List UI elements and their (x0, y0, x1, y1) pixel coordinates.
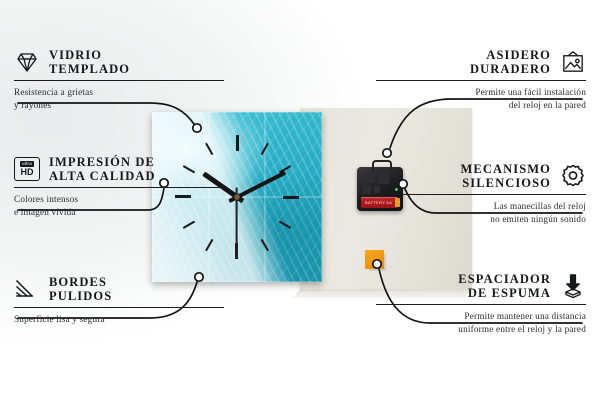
connector-endpoint (193, 124, 201, 132)
feature-title-line1: BORDES (49, 275, 112, 289)
feature-subtitle-line1: Colores intensos (14, 193, 224, 205)
feature-subtitle-line2: no emiten ningún sonido (376, 213, 586, 225)
feature-title-line1: ESPACIADOR (458, 272, 551, 286)
divider (376, 80, 586, 81)
ultra-hd-box: ultra HD (14, 157, 40, 181)
feature-title-line1: ASIDERO (470, 48, 551, 62)
feature-subtitle-line1: Las manecillas del reloj (376, 200, 586, 212)
feature-title-line2: TEMPLADO (49, 62, 130, 76)
infographic-canvas: BATTERY AA (0, 0, 600, 400)
feature-subtitle: Resistencia a grietas y rayones (14, 86, 224, 111)
ultra-hd-icon: ultra HD (14, 156, 40, 182)
diamond-icon (14, 49, 40, 75)
feature-title: ASIDERO DURADERO (470, 48, 551, 76)
feature-title-line2: DURADERO (470, 62, 551, 76)
polished-edges-icon (14, 276, 40, 302)
divider (14, 307, 224, 308)
feature-vidrio-templado: VIDRIO TEMPLADO Resistencia a grietas y … (14, 48, 224, 111)
picture-frame-icon (560, 49, 586, 75)
feature-subtitle: Las manecillas del reloj no emiten ningú… (376, 200, 586, 225)
feature-espaciador-de-espuma: ESPACIADOR DE ESPUMA Permite mantener un… (376, 272, 586, 335)
ultra-hd-badge-small: ultra (20, 161, 34, 167)
feature-subtitle-line2: uniforme entre el reloj y la pared (376, 323, 586, 335)
feature-subtitle-line1: Permite mantener una distancia (376, 310, 586, 322)
feature-subtitle-line2: del reloj en la pared (376, 99, 586, 111)
feature-title: MECANISMO SILENCIOSO (461, 162, 551, 190)
gear-icon (560, 163, 586, 189)
feature-subtitle-line2: e imagen vívida (14, 206, 224, 218)
divider (14, 80, 224, 81)
feature-title: BORDES PULIDOS (49, 275, 112, 303)
feature-header: BORDES PULIDOS (14, 275, 224, 303)
feature-header: MECANISMO SILENCIOSO (376, 162, 586, 190)
feature-title-line1: VIDRIO (49, 48, 130, 62)
feature-title-line1: IMPRESIÓN DE (49, 155, 156, 169)
connector-endpoint (373, 260, 381, 268)
feature-impresion-alta-calidad: ultra HD IMPRESIÓN DE ALTA CALIDAD Color… (14, 155, 224, 218)
feature-title-line2: SILENCIOSO (461, 176, 551, 190)
feature-header: ESPACIADOR DE ESPUMA (376, 272, 586, 300)
feature-header: VIDRIO TEMPLADO (14, 48, 224, 76)
feature-subtitle-line2: y rayones (14, 99, 224, 111)
feature-title: IMPRESIÓN DE ALTA CALIDAD (49, 155, 156, 183)
feature-header: ASIDERO DURADERO (376, 48, 586, 76)
feature-title: VIDRIO TEMPLADO (49, 48, 130, 76)
divider (14, 187, 224, 188)
feature-subtitle-line1: Resistencia a grietas (14, 86, 224, 98)
feature-header: ultra HD IMPRESIÓN DE ALTA CALIDAD (14, 155, 224, 183)
connector-endpoint (383, 149, 391, 157)
feature-asidero-duradero: ASIDERO DURADERO Permite una fácil insta… (376, 48, 586, 111)
feature-bordes-pulidos: BORDES PULIDOS Superficie lisa y segura (14, 275, 224, 326)
feature-title-line2: ALTA CALIDAD (49, 169, 156, 183)
feature-subtitle: Colores intensos e imagen vívida (14, 193, 224, 218)
feature-subtitle: Permite mantener una distancia uniforme … (376, 310, 586, 335)
feature-subtitle: Permite una fácil instalación del reloj … (376, 86, 586, 111)
feature-subtitle-line1: Permite una fácil instalación (376, 86, 586, 98)
divider (376, 304, 586, 305)
feature-title: ESPACIADOR DE ESPUMA (458, 272, 551, 300)
feature-subtitle-line1: Superficie lisa y segura (14, 313, 224, 325)
feature-title-line2: DE ESPUMA (458, 286, 551, 300)
feature-subtitle: Superficie lisa y segura (14, 313, 224, 325)
divider (376, 194, 586, 195)
feature-title-line2: PULIDOS (49, 289, 112, 303)
down-arrow-pad-icon (560, 273, 586, 299)
feature-title-line1: MECANISMO (461, 162, 551, 176)
feature-mecanismo-silencioso: MECANISMO SILENCIOSO Las manecillas del … (376, 162, 586, 225)
ultra-hd-badge-large: HD (21, 168, 34, 177)
